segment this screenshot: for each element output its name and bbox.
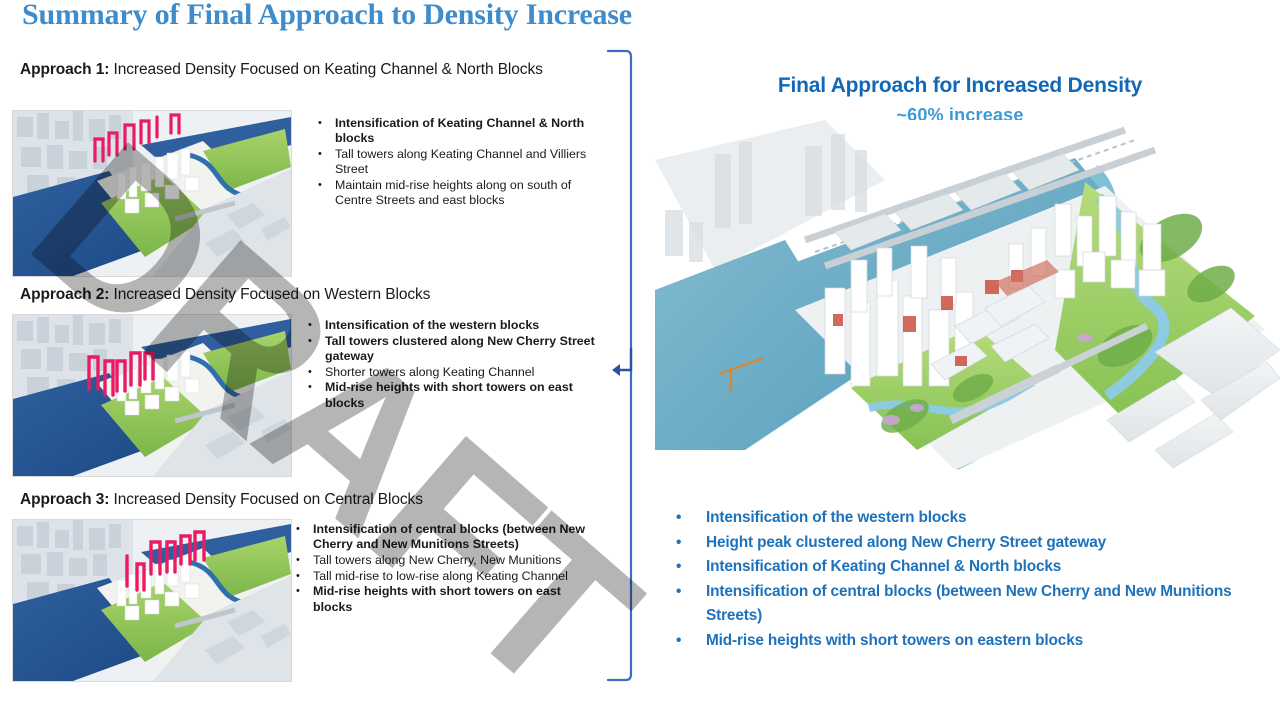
grouping-bracket bbox=[600, 48, 634, 683]
slide-canvas: Summary of Final Approach to Density Inc… bbox=[0, 0, 1280, 701]
approach-1-bullet-list: • Intensification of Keating Channel & N… bbox=[318, 116, 610, 209]
bullet-text: Tall mid-rise to low-rise along Keating … bbox=[313, 569, 596, 584]
approach-2-label: Approach 2: bbox=[20, 286, 114, 303]
bullet-text: Maintain mid-rise heights along on south… bbox=[335, 178, 610, 208]
final-approach-bullet-list: • Intensification of the western blocks … bbox=[676, 506, 1276, 653]
bullet-item: • Tall towers along New Cherry, New Muni… bbox=[296, 553, 596, 568]
bullet-dot-icon: • bbox=[296, 522, 313, 552]
bullet-text: Tall towers along Keating Channel and Vi… bbox=[335, 147, 610, 177]
final-bullet-text: Intensification of central blocks (betwe… bbox=[706, 580, 1276, 629]
final-approach-title: Final Approach for Increased Density bbox=[640, 74, 1280, 98]
bullet-dot-icon: • bbox=[308, 380, 325, 410]
bullet-item: • Mid-rise heights with short towers on … bbox=[308, 380, 608, 410]
bullet-text: Intensification of the western blocks bbox=[325, 318, 608, 333]
bullet-dot-icon: • bbox=[676, 580, 706, 629]
final-bullet-text: Intensification of the western blocks bbox=[706, 506, 1276, 531]
approach-3-thumbnail[interactable] bbox=[12, 519, 292, 682]
bullet-item: • Intensification of Keating Channel & N… bbox=[318, 116, 610, 146]
aerial-render-final-approach-icon bbox=[655, 120, 1280, 488]
bullet-item: • Maintain mid-rise heights along on sou… bbox=[318, 178, 610, 208]
approach-2-title: Increased Density Focused on Western Blo… bbox=[114, 286, 431, 303]
approach-2-thumbnail[interactable] bbox=[12, 314, 292, 477]
final-bullet-item: • Height peak clustered along New Cherry… bbox=[676, 531, 1276, 556]
aerial-render-central-blocks-icon bbox=[13, 520, 291, 681]
bullet-text: Mid-rise heights with short towers on ea… bbox=[313, 584, 596, 614]
bracket-arrow-icon bbox=[600, 48, 634, 683]
bullet-text: Mid-rise heights with short towers on ea… bbox=[325, 380, 608, 410]
approach-3-heading: Approach 3: Increased Density Focused on… bbox=[20, 490, 610, 509]
approach-1-thumbnail[interactable] bbox=[12, 110, 292, 277]
approach-1-label: Approach 1: bbox=[20, 61, 114, 78]
approach-3-bullet-list: • Intensification of central blocks (bet… bbox=[296, 522, 596, 615]
bullet-text: Shorter towers along Keating Channel bbox=[325, 365, 608, 380]
final-bullet-item: • Intensification of the western blocks bbox=[676, 506, 1276, 531]
bullet-dot-icon: • bbox=[308, 365, 325, 380]
bullet-dot-icon: • bbox=[318, 147, 335, 177]
aerial-render-western-blocks-icon bbox=[13, 315, 291, 476]
bullet-item: • Intensification of the western blocks bbox=[308, 318, 608, 333]
bullet-item: • Tall mid-rise to low-rise along Keatin… bbox=[296, 569, 596, 584]
bullet-dot-icon: • bbox=[308, 318, 325, 333]
aerial-render-keating-channel-north-icon bbox=[13, 111, 291, 276]
final-bullet-text: Height peak clustered along New Cherry S… bbox=[706, 531, 1276, 556]
final-bullet-item: • Mid-rise heights with short towers on … bbox=[676, 629, 1276, 654]
bullet-item: • Intensification of central blocks (bet… bbox=[296, 522, 596, 552]
approach-3-title: Increased Density Focused on Central Blo… bbox=[114, 491, 423, 508]
approach-1-heading: Approach 1: Increased Density Focused on… bbox=[20, 60, 610, 79]
bullet-item: • Tall towers clustered along New Cherry… bbox=[308, 334, 608, 364]
bullet-text: Intensification of central blocks (betwe… bbox=[313, 522, 596, 552]
final-bullet-text: Mid-rise heights with short towers on ea… bbox=[706, 629, 1276, 654]
approach-1-title: Increased Density Focused on Keating Cha… bbox=[114, 61, 543, 78]
bullet-item: • Mid-rise heights with short towers on … bbox=[296, 584, 596, 614]
bullet-dot-icon: • bbox=[676, 629, 706, 654]
bullet-text: Tall towers clustered along New Cherry S… bbox=[325, 334, 608, 364]
bullet-dot-icon: • bbox=[318, 116, 335, 146]
approach-2-bullet-list: • Intensification of the western blocks … bbox=[308, 318, 608, 411]
bullet-dot-icon: • bbox=[676, 531, 706, 556]
final-bullet-item: • Intensification of Keating Channel & N… bbox=[676, 555, 1276, 580]
bullet-text: Tall towers along New Cherry, New Muniti… bbox=[313, 553, 596, 568]
page-title: Summary of Final Approach to Density Inc… bbox=[22, 0, 632, 32]
final-bullet-item: • Intensification of central blocks (bet… bbox=[676, 580, 1276, 629]
bullet-dot-icon: • bbox=[318, 178, 335, 208]
bullet-item: • Shorter towers along Keating Channel bbox=[308, 365, 608, 380]
bullet-text: Intensification of Keating Channel & Nor… bbox=[335, 116, 610, 146]
approach-3-label: Approach 3: bbox=[20, 491, 114, 508]
bullet-dot-icon: • bbox=[676, 555, 706, 580]
bullet-dot-icon: • bbox=[296, 584, 313, 614]
bullet-dot-icon: • bbox=[676, 506, 706, 531]
bullet-item: • Tall towers along Keating Channel and … bbox=[318, 147, 610, 177]
bullet-dot-icon: • bbox=[308, 334, 325, 364]
bullet-dot-icon: • bbox=[296, 553, 313, 568]
bullet-dot-icon: • bbox=[296, 569, 313, 584]
approach-2-heading: Approach 2: Increased Density Focused on… bbox=[20, 285, 610, 304]
final-bullet-text: Intensification of Keating Channel & Nor… bbox=[706, 555, 1276, 580]
final-approach-render[interactable] bbox=[655, 120, 1280, 488]
